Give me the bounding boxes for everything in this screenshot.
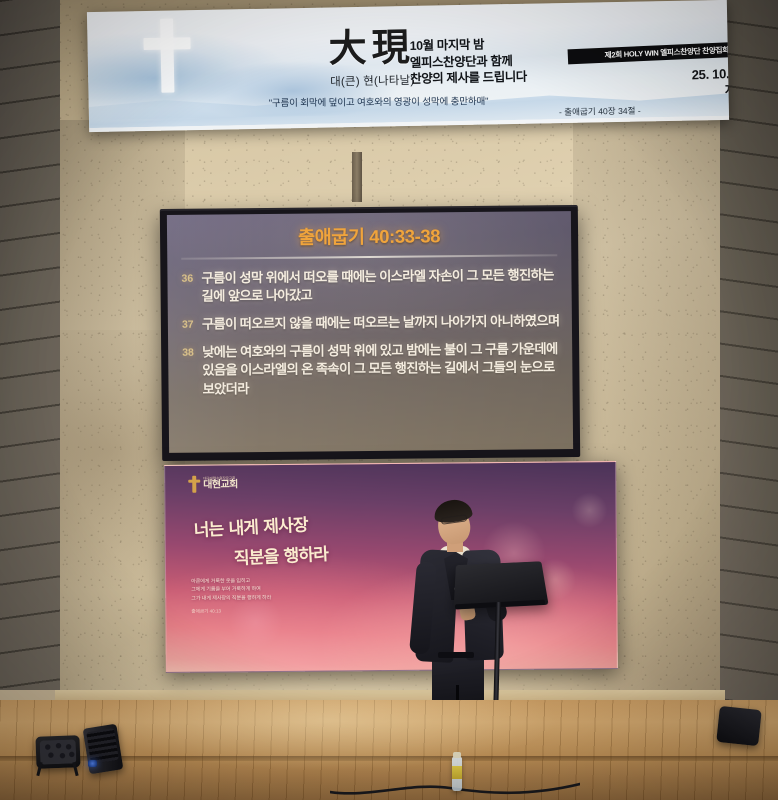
cross-icon bbox=[187, 476, 200, 493]
stage-backdrop-banner: 대구대현수원장로교회 대현교회 너는 내게 제사장 직분을 행하라 아론에게 거… bbox=[164, 461, 618, 673]
backdrop-subtext-line-3: 그가 내게 제사장의 직분을 행하게 하라 bbox=[191, 593, 391, 603]
slide-title-divider bbox=[181, 254, 557, 259]
banner-church-name: 대현교회 bbox=[609, 105, 729, 120]
banner-event-strip-text: 제2회 HOLY WIN 엘피스찬양단 찬양집회 bbox=[604, 44, 729, 60]
projection-screen-frame: 출애굽기 40:33-38 36 구름이 성막 위에서 떠오를 때에는 이스라엘… bbox=[160, 205, 580, 461]
sanctuary-stage-scene: 大現 대(큰) 현(나타날) "구름이 회막에 덮이고 여호와의 영광이 성막에… bbox=[0, 0, 778, 800]
verse-text: 구름이 성막 위에서 떠오를 때에는 이스라엘 자손이 그 모든 행진하는 길에… bbox=[201, 266, 559, 307]
banner-message: 10월 마지막 밤 엘피스찬양단과 함께 찬양의 제사를 드립니다 bbox=[409, 35, 580, 88]
water-bottle-cap bbox=[453, 752, 461, 758]
slide-verse-row: 37 구름이 떠오르지 않을 때에는 떠오르는 날까지 나아가지 아니하였으며 bbox=[182, 312, 560, 334]
cross-icon bbox=[139, 18, 194, 93]
screen-mount-bracket bbox=[352, 152, 362, 202]
slide-verse-row: 36 구름이 성막 위에서 떠오를 때에는 이스라엘 자손이 그 모든 행진하는… bbox=[181, 266, 559, 307]
speaker-belt bbox=[438, 652, 474, 658]
par-light-stand bbox=[32, 762, 84, 776]
banner-scripture-quote: "구름이 회막에 덮이고 여호와의 영광이 성막에 충만하매" bbox=[269, 93, 559, 110]
verse-text: 구름이 떠오르지 않을 때에는 떠오르는 날까지 나아가지 아니하였으며 bbox=[202, 312, 560, 334]
backdrop-church-logo: 대구대현수원장로교회 대현교회 bbox=[187, 475, 238, 492]
logo-church-name: 대현교회 bbox=[203, 481, 237, 491]
verse-number: 36 bbox=[181, 269, 201, 284]
water-bottle-label bbox=[452, 766, 462, 779]
backdrop-headline-line-2: 직분을 행하라 bbox=[233, 540, 328, 569]
slide-verse-list: 36 구름이 성막 위에서 떠오를 때에는 이스라엘 자손이 그 모든 행진하는… bbox=[181, 266, 560, 400]
banner-event-strip: 제2회 HOLY WIN 엘피스찬양단 찬양집회 bbox=[568, 41, 730, 65]
projection-screen: 출애굽기 40:33-38 36 구름이 성막 위에서 떠오를 때에는 이스라엘… bbox=[167, 211, 573, 453]
backdrop-headline-line-1: 너는 내게 제사장 bbox=[193, 510, 308, 541]
led-par-light bbox=[716, 706, 762, 746]
verse-number: 37 bbox=[182, 316, 202, 331]
par-light-indicator-led bbox=[88, 760, 97, 767]
backdrop-reference: 출애굽기 40:13 bbox=[191, 608, 221, 614]
slide-verse-row: 38 낮에는 여호와의 구름이 성막 위에 있고 밤에는 불이 그 구름 가운데… bbox=[182, 340, 561, 400]
verse-text: 낮에는 여호와의 구름이 성막 위에 있고 밤에는 불이 그 구름 가운데에 있… bbox=[202, 340, 561, 400]
hanging-event-banner: 大現 대(큰) 현(나타날) "구름이 회막에 덮이고 여호와의 영광이 성막에… bbox=[87, 0, 729, 132]
left-dark-wall-panel bbox=[0, 0, 60, 690]
slide-title: 출애굽기 40:33-38 bbox=[167, 221, 571, 251]
banner-message-line-3: 찬양의 제사를 드립니다 bbox=[410, 68, 580, 88]
backdrop-bokeh bbox=[571, 492, 607, 528]
backdrop-subtext: 아론에게 거룩한 옷을 입히고 그에게 기름을 부어 거룩하게 하여 그가 내게… bbox=[191, 576, 391, 603]
verse-number: 38 bbox=[182, 343, 202, 358]
